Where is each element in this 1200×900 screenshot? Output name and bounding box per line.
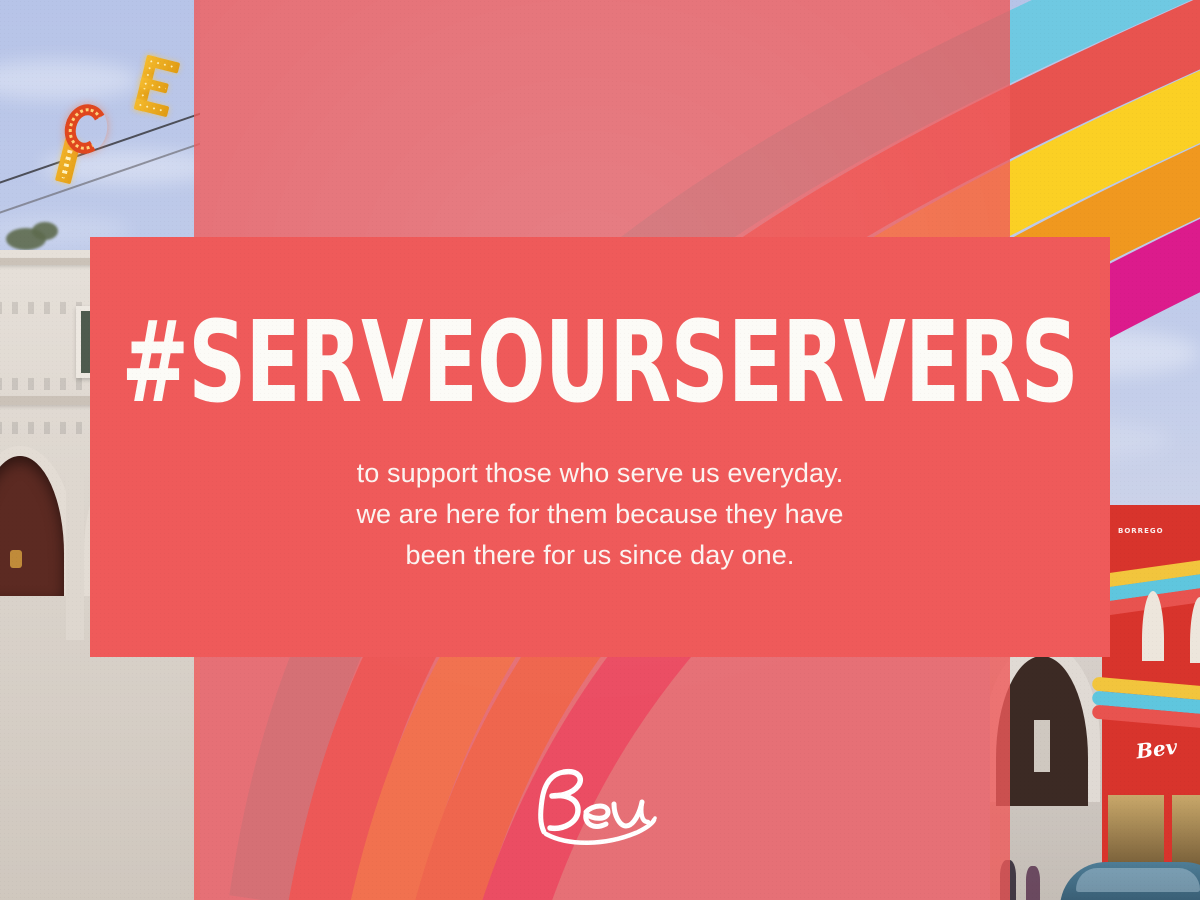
bev-logo bbox=[0, 760, 1200, 850]
subcopy-line-1: to support those who serve us everyday. bbox=[356, 453, 843, 494]
page-title: #SERVEOURSERVERS bbox=[122, 237, 1078, 419]
poster-canvas: BORREGO Bev bbox=[0, 0, 1200, 900]
subcopy-line-2: we are here for them because they have bbox=[356, 494, 843, 535]
subcopy: to support those who serve us everyday. … bbox=[356, 419, 843, 576]
subcopy-line-3: been there for us since day one. bbox=[356, 535, 843, 576]
headline-card: #SERVEOURSERVERS to support those who se… bbox=[90, 237, 1110, 657]
